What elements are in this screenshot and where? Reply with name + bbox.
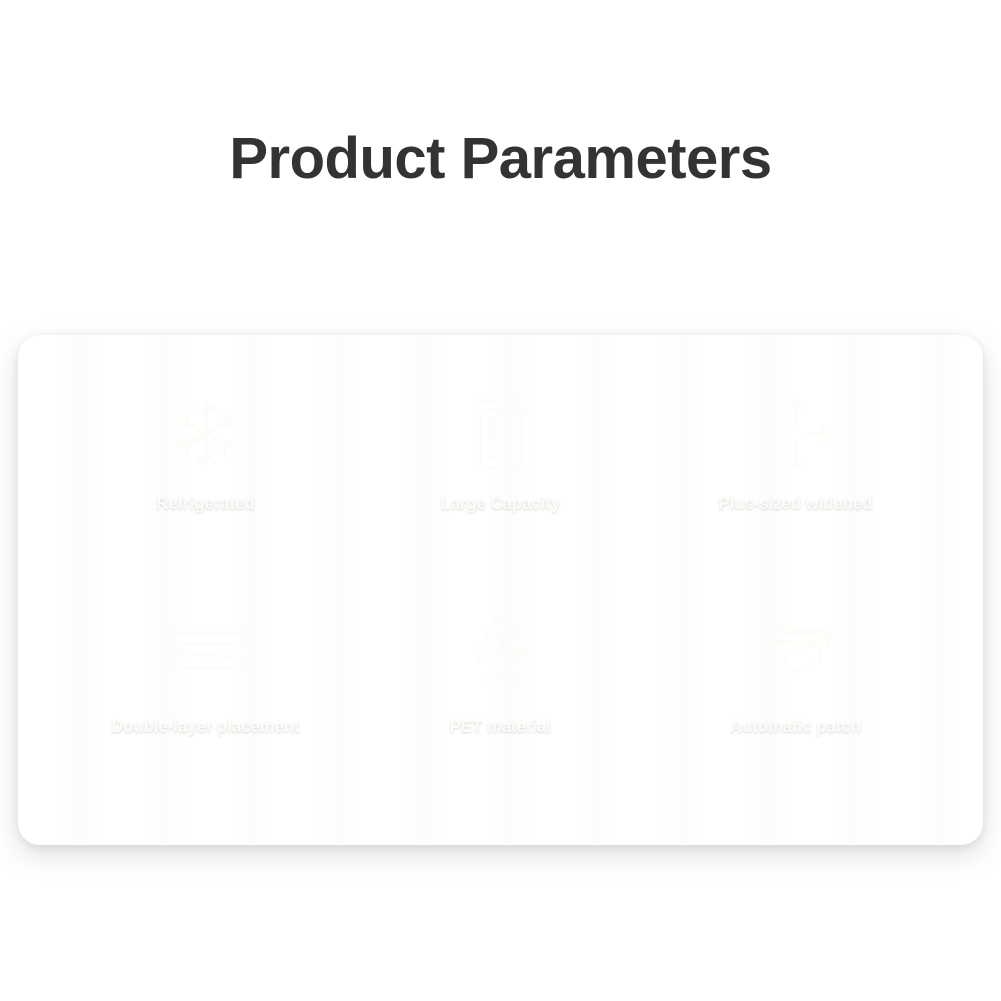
feature-pet-material: 1 PET PET material bbox=[353, 594, 648, 809]
recycling-number: 1 bbox=[493, 630, 508, 660]
four-way-expand-arrows-icon bbox=[750, 395, 842, 473]
feature-label: Refrigerated bbox=[156, 495, 254, 514]
feature-label: Automatic patch bbox=[730, 718, 861, 737]
features-panel: Refrigerated bbox=[18, 335, 983, 845]
feature-double-layer-placement: Double-layer placement bbox=[58, 594, 353, 809]
features-grid: Refrigerated bbox=[18, 335, 983, 845]
measuring-container-icon bbox=[455, 395, 547, 473]
feature-automatic-patch: Automatic patch bbox=[648, 594, 943, 809]
product-parameters-page: Product Parameters bbox=[0, 0, 1001, 1001]
snowflake-icon bbox=[160, 395, 252, 473]
stacked-trays-icon bbox=[160, 608, 252, 686]
title-section: Product Parameters bbox=[0, 0, 1001, 335]
feature-plus-sized-widened: Plus-sized widened bbox=[648, 379, 943, 594]
feature-label: Large Capacity bbox=[441, 495, 561, 514]
page-title: Product Parameters bbox=[229, 130, 771, 188]
feature-label: Double-layer placement bbox=[111, 718, 299, 737]
feature-label: PET material bbox=[450, 718, 551, 737]
recycling-material-code: PET bbox=[479, 668, 522, 688]
feature-refrigerated: Refrigerated bbox=[58, 379, 353, 594]
sliding-lid-box-icon bbox=[750, 608, 842, 686]
recycling-pet-1-icon: 1 PET bbox=[455, 608, 547, 686]
feature-label: Plus-sized widened bbox=[719, 495, 873, 514]
feature-large-capacity: Large Capacity bbox=[353, 379, 648, 594]
